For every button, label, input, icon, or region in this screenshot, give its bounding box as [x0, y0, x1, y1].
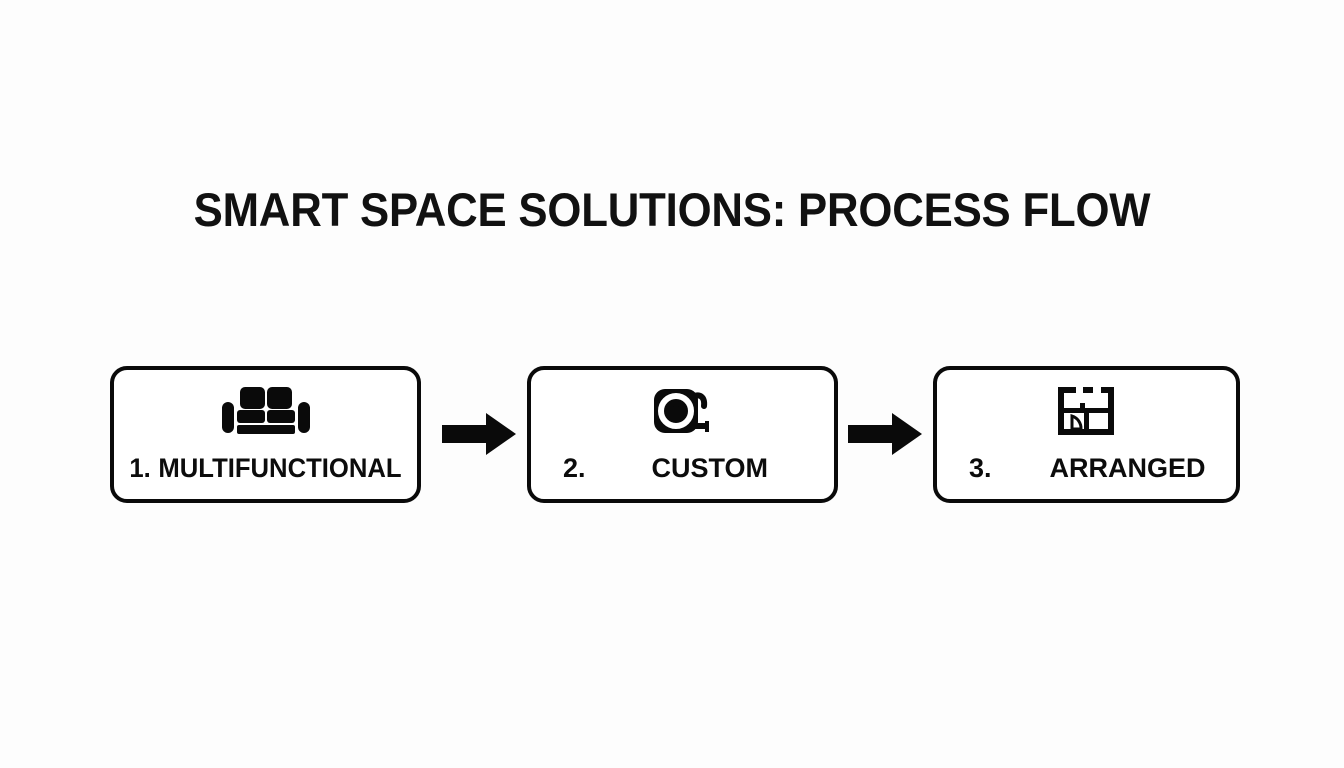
process-step-3-label: 3. ARRANGED — [937, 448, 1236, 488]
process-step-2[interactable]: 2. CUSTOM — [527, 366, 838, 503]
step-word: CUSTOM — [652, 453, 769, 484]
arrow-step1-to-step2 — [442, 411, 518, 457]
process-step-1-label: 1. MULTIFUNCTIONAL — [122, 448, 410, 488]
process-step-2-label: 2. CUSTOM — [531, 448, 834, 488]
page-title: SMART SPACE SOLUTIONS: PROCESS FLOW — [47, 182, 1297, 237]
process-step-1[interactable]: 1. MULTIFUNCTIONAL — [110, 366, 421, 503]
step-number: 3. — [969, 453, 992, 484]
arrow-step2-to-step3 — [848, 411, 924, 457]
process-flow-row: 1. MULTIFUNCTIONAL — [110, 366, 1240, 503]
floor-plan-icon — [937, 383, 1236, 439]
diagram-canvas: SMART SPACE SOLUTIONS: PROCESS FLOW — [0, 0, 1344, 768]
step-number: 2. — [563, 453, 586, 484]
step-word: ARRANGED — [1050, 453, 1206, 484]
tape-measure-icon — [531, 383, 834, 439]
process-step-3[interactable]: 3. ARRANGED — [933, 366, 1240, 503]
step-number: 1. — [129, 453, 150, 484]
sofa-icon — [114, 383, 417, 439]
step-word: MULTIFUNCTIONAL — [158, 453, 401, 484]
